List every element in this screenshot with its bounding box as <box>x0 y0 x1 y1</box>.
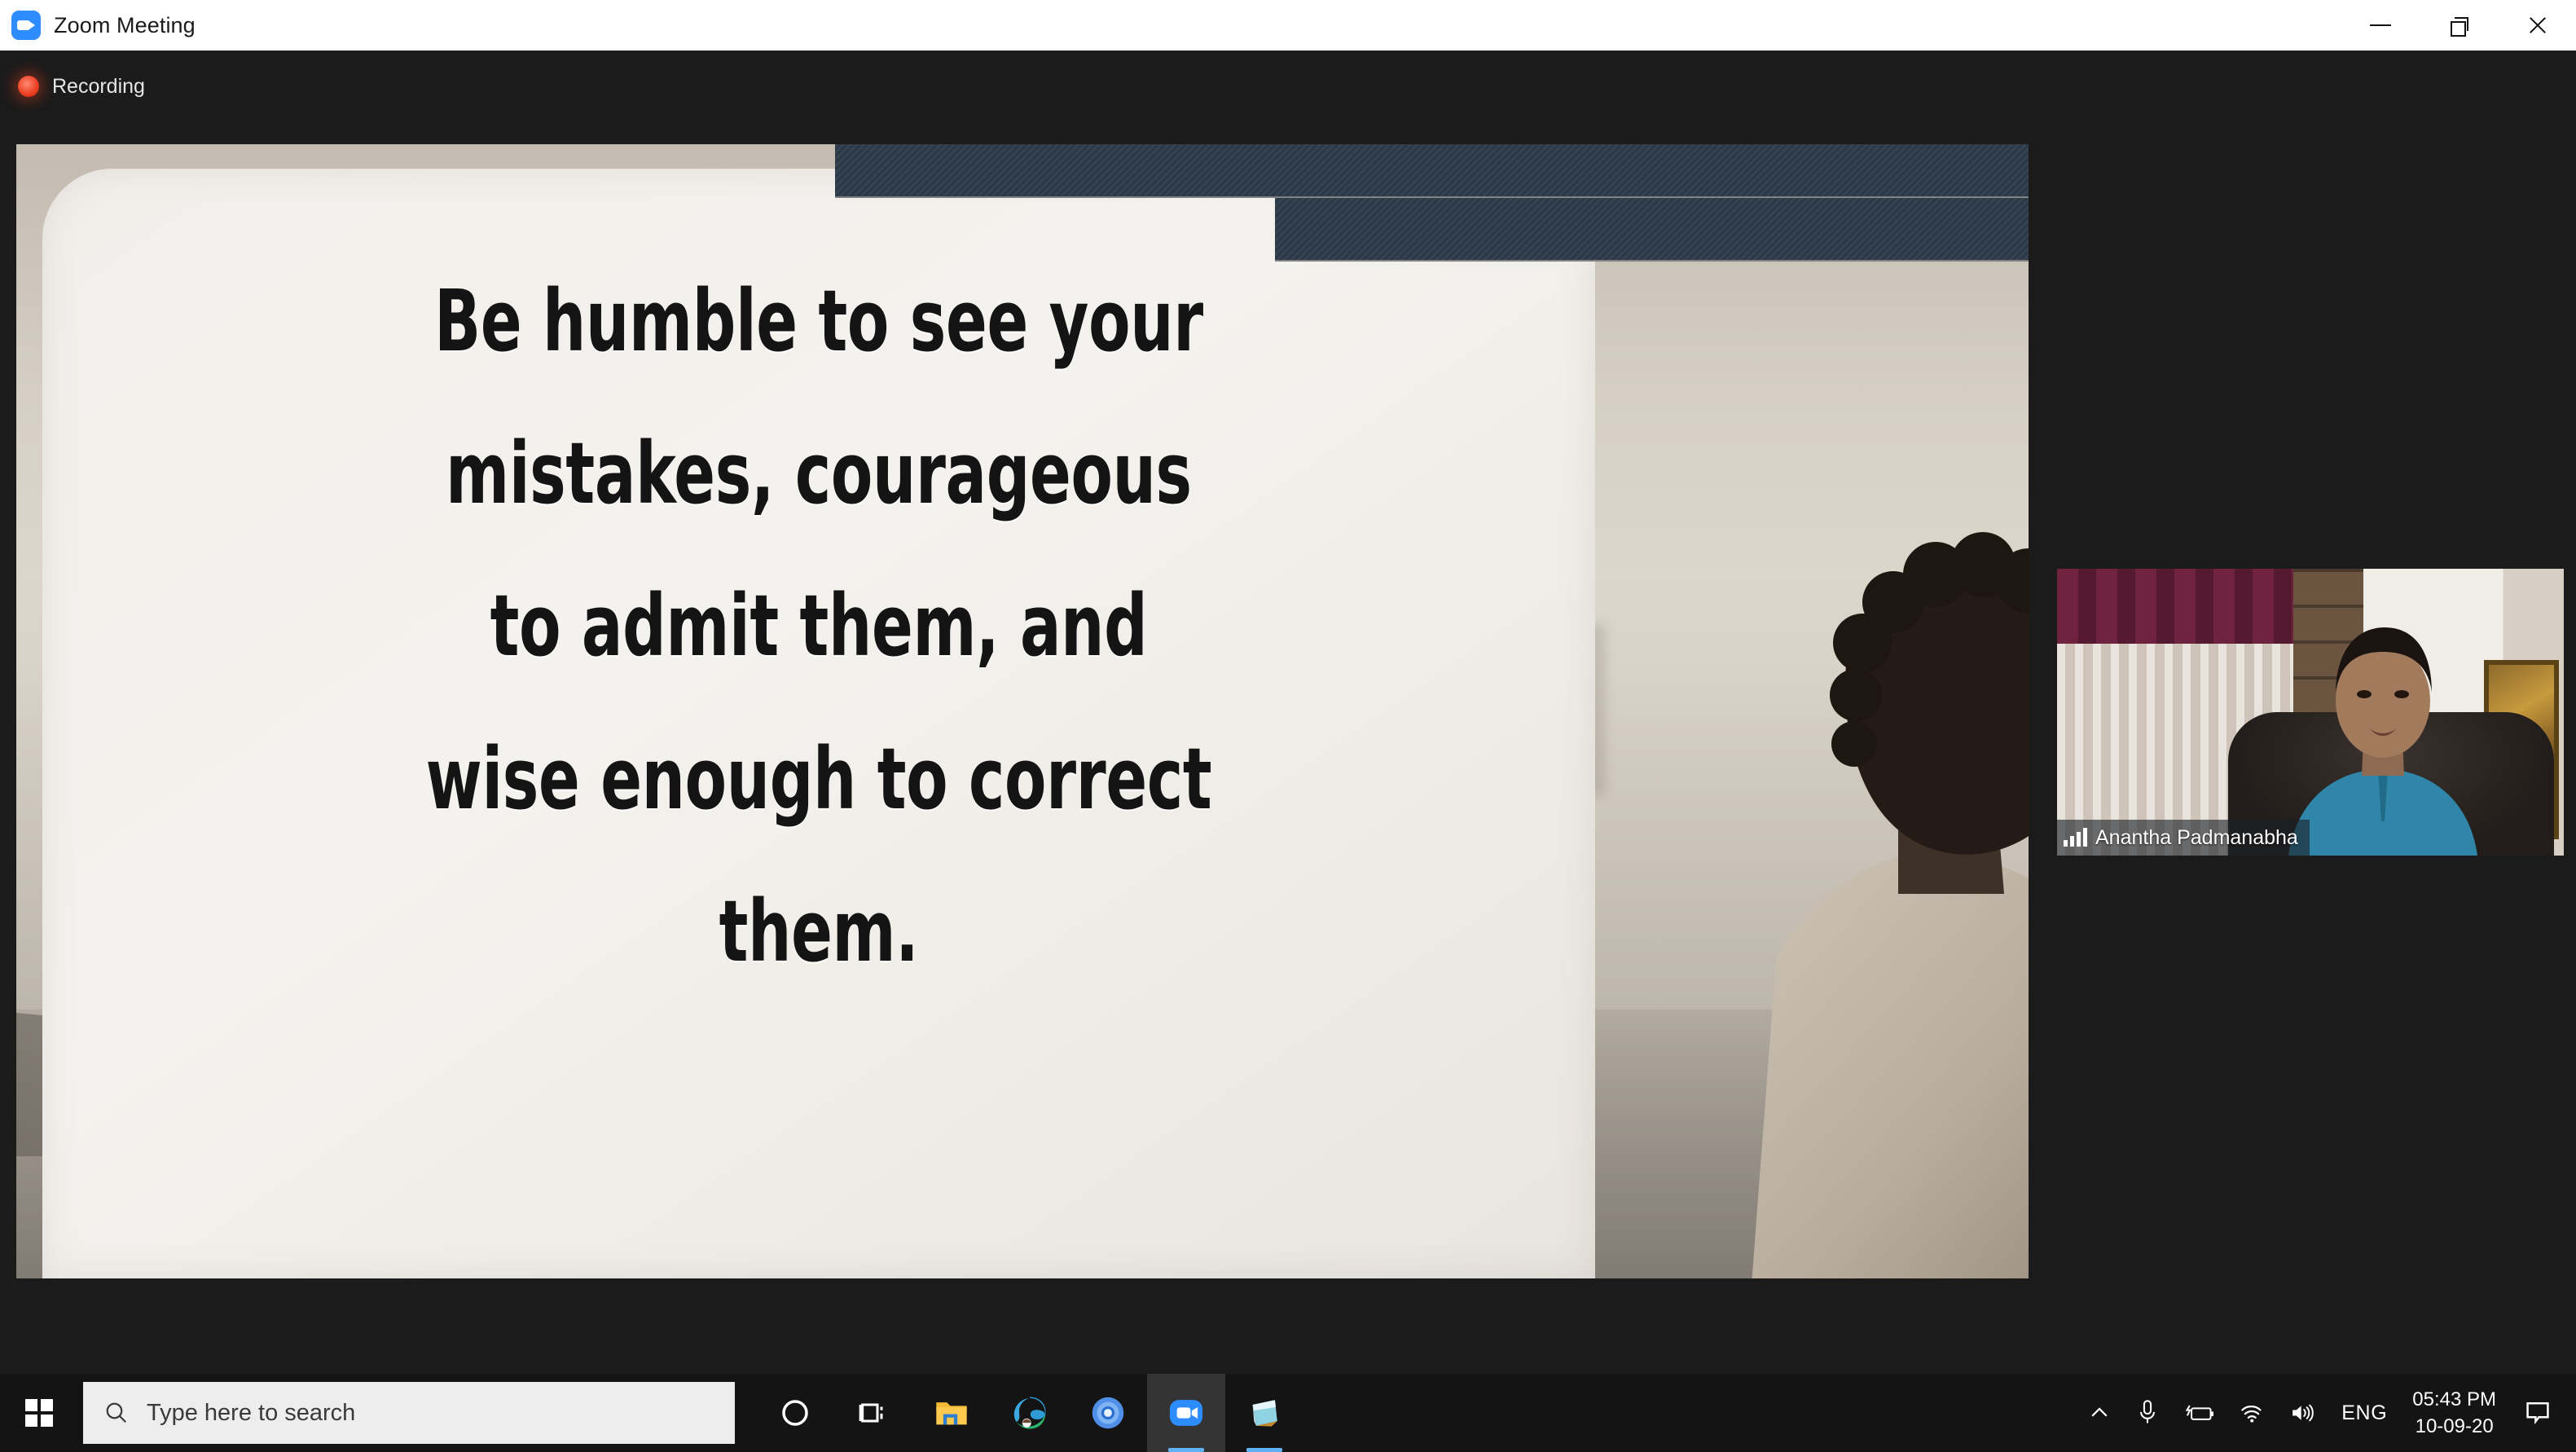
windows-logo-icon <box>25 1399 53 1427</box>
microsoft-edge-icon <box>1011 1394 1048 1432</box>
recording-label: Recording <box>52 75 145 99</box>
quote-card: Be humble to see your mistakes, courageo… <box>42 169 1595 1278</box>
person-silhouette <box>1654 470 2029 1278</box>
start-button[interactable] <box>0 1374 78 1452</box>
taskbar-app-cortana[interactable] <box>756 1374 834 1452</box>
taskbar-app-sticky-notes[interactable] <box>1225 1374 1303 1452</box>
taskbar-search-box[interactable] <box>83 1382 735 1444</box>
participant-name: Anantha Padmanabha <box>2095 826 2298 850</box>
shared-screen-content[interactable]: Be humble to see your mistakes, courageo… <box>16 144 2029 1278</box>
restore-icon <box>2451 17 2467 33</box>
signal-bars-icon <box>2064 829 2087 847</box>
taskbar-app-chrome[interactable] <box>1069 1374 1147 1452</box>
sticky-notes-icon <box>1246 1394 1283 1432</box>
zoom-camera-icon <box>11 11 41 40</box>
curtain-valance <box>2057 569 2293 644</box>
action-center-button[interactable] <box>2509 1374 2569 1452</box>
windows-taskbar: ENG 05:43 PM 10-09-20 <box>0 1374 2576 1452</box>
taskbar-app-buttons <box>756 1374 1303 1452</box>
participant-video-tile[interactable]: Anantha Padmanabha <box>2057 569 2564 856</box>
zoom-icon <box>1167 1393 1206 1432</box>
close-icon <box>2527 15 2547 35</box>
tray-network-button[interactable] <box>2227 1374 2277 1452</box>
taskbar-app-zoom[interactable] <box>1147 1374 1225 1452</box>
window-title-bar[interactable]: Zoom Meeting <box>0 0 2576 51</box>
tray-language-button[interactable]: ENG <box>2329 1374 2399 1452</box>
cortana-icon <box>779 1397 811 1429</box>
tray-overflow-button[interactable] <box>2075 1374 2124 1452</box>
system-tray: ENG 05:43 PM 10-09-20 <box>2075 1374 2576 1452</box>
window-title: Zoom Meeting <box>54 13 196 38</box>
quote-text: Be humble to see your mistakes, courageo… <box>198 245 1440 1008</box>
wifi-icon <box>2239 1401 2265 1424</box>
file-explorer-icon <box>933 1394 970 1432</box>
taskbar-app-microsoft-edge[interactable] <box>991 1374 1069 1452</box>
tray-microphone-button[interactable] <box>2124 1374 2171 1452</box>
search-input[interactable] <box>147 1400 735 1427</box>
taskbar-app-task-view[interactable] <box>834 1374 912 1452</box>
tray-battery-button[interactable] <box>2171 1374 2227 1452</box>
taskbar-clock[interactable]: 05:43 PM 10-09-20 <box>2399 1374 2509 1452</box>
clock-date: 10-09-20 <box>2416 1413 2494 1440</box>
microphone-icon <box>2136 1399 2159 1427</box>
clock-time: 05:43 PM <box>2412 1386 2496 1413</box>
window-controls <box>2341 0 2576 51</box>
notification-icon <box>2524 1399 2552 1427</box>
minimize-button[interactable] <box>2341 0 2420 51</box>
participant-name-bar: Anantha Padmanabha <box>2057 820 2310 856</box>
battery-charging-icon <box>2183 1401 2214 1424</box>
zoom-meeting-window: Recording Be humble to see your mistak <box>0 51 2576 1374</box>
language-indicator: ENG <box>2341 1401 2387 1425</box>
minimize-icon <box>2370 24 2391 26</box>
chevron-up-icon <box>2087 1401 2112 1425</box>
recording-dot-icon <box>18 76 39 97</box>
tray-volume-button[interactable] <box>2277 1374 2329 1452</box>
recording-indicator[interactable]: Recording <box>18 68 145 104</box>
maximize-button[interactable] <box>2420 0 2498 51</box>
chrome-icon <box>1089 1394 1127 1432</box>
task-view-icon <box>857 1397 890 1429</box>
volume-icon <box>2289 1401 2317 1424</box>
search-icon <box>104 1401 129 1425</box>
taskbar-app-file-explorer[interactable] <box>912 1374 991 1452</box>
close-button[interactable] <box>2498 0 2576 51</box>
